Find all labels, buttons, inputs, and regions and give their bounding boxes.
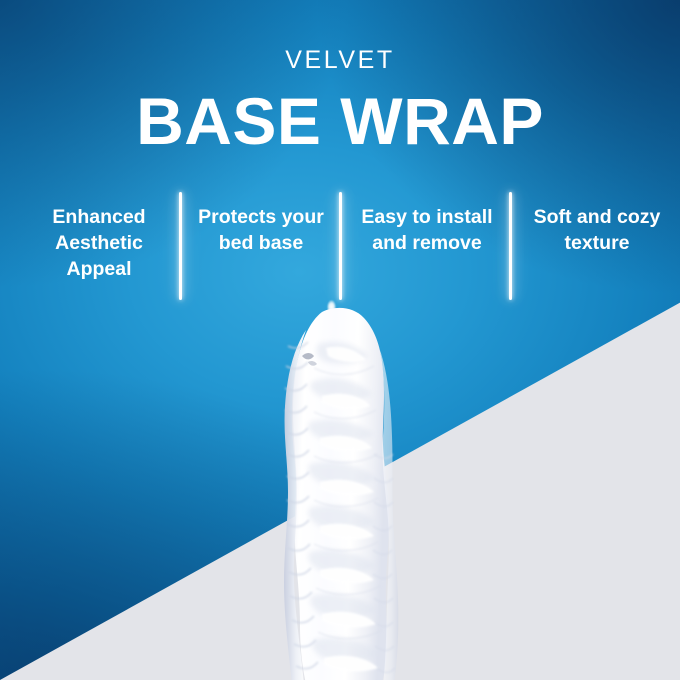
feature-divider-3 [509,192,512,300]
feature-label: Enhanced Aesthetic Appeal [52,206,145,280]
feature-divider-2 [339,192,342,300]
feature-label: Protects your bed base [198,206,324,254]
feature-strip: Enhanced Aesthetic Appeal Protects your … [26,192,654,302]
eyebrow-text: VELVET [0,48,680,73]
feature-label: Easy to install and remove [361,206,492,254]
feature-divider-1 [179,192,182,300]
feature-item-enhanced-aesthetic-appeal: Enhanced Aesthetic Appeal [26,192,172,283]
product-image-bed-base-wrap [262,304,432,680]
feature-item-soft-and-cozy-texture: Soft and cozy texture [522,192,672,257]
feature-item-protects-your-bed-base: Protects your bed base [191,192,331,257]
feature-item-easy-to-install-and-remove: Easy to install and remove [352,192,502,257]
header-block: VELVET BASE WRAP [0,0,680,154]
promo-banner: VELVET BASE WRAP Enhanced Aesthetic Appe… [0,0,680,680]
feature-label: Soft and cozy texture [534,206,661,254]
page-title: BASE WRAP [0,88,680,154]
